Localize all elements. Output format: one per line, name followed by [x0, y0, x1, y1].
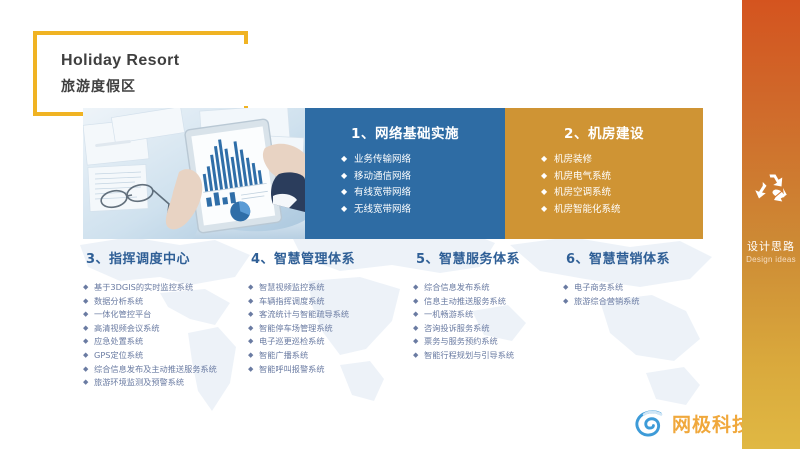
list-item: ◆高清视频会议系统 — [83, 322, 248, 336]
bullet-diamond-icon: ◆ — [83, 335, 94, 349]
list-item-label: 基于3DGIS的实时监控系统 — [94, 282, 193, 292]
top-band: 1、网络基础实施 ◆业务传输网络 ◆移动通信网络 ◆有线宽带网络 ◆无线宽带网络… — [83, 108, 703, 239]
bullet-diamond-icon: ◆ — [413, 308, 424, 322]
bullet-diamond-icon: ◆ — [83, 322, 94, 336]
panel-title: 2、机房建设 — [505, 122, 703, 142]
list-item: ◆综合信息发布及主动推送服务系统 — [83, 363, 248, 377]
list-item: ◆机房装修 — [541, 151, 703, 168]
bullet-diamond-icon: ◆ — [413, 335, 424, 349]
list-item-label: 旅游综合营销系统 — [574, 296, 640, 306]
list-item: ◆GPS定位系统 — [83, 349, 248, 363]
panel-network-infrastructure: 1、网络基础实施 ◆业务传输网络 ◆移动通信网络 ◆有线宽带网络 ◆无线宽带网络 — [305, 108, 505, 239]
list-item: ◆机房智能化系统 — [541, 201, 703, 218]
panel-item-list: ◆机房装修 ◆机房电气系统 ◆机房空调系统 ◆机房智能化系统 — [505, 151, 703, 217]
panel-title: 1、网络基础实施 — [305, 122, 505, 142]
bullet-diamond-icon: ◆ — [83, 376, 94, 390]
list-item: ◆旅游综合营销系统 — [563, 295, 703, 309]
list-item: ◆移动通信网络 — [341, 168, 505, 185]
bullet-diamond-icon: ◆ — [248, 281, 259, 295]
bullet-diamond-icon: ◆ — [341, 151, 354, 167]
list-item: ◆信息主动推送服务系统 — [413, 295, 563, 309]
list-item-label: 信息主动推送服务系统 — [424, 296, 506, 306]
list-item: ◆综合信息发布系统 — [413, 281, 563, 295]
column-smart-marketing-system: 6、智慧营销体系 ◆电子商务系统 ◆旅游综合营销系统 — [563, 248, 703, 398]
list-item: ◆智能行程规划与引导系统 — [413, 349, 563, 363]
list-item: ◆客流统计与智能疏导系统 — [248, 308, 413, 322]
column-smart-service-system: 5、智慧服务体系 ◆综合信息发布系统 ◆信息主动推送服务系统 ◆一机畅游系统 ◆… — [413, 248, 563, 398]
bottom-columns: 3、指挥调度中心 ◆基于3DGIS的实时监控系统 ◆数据分析系统 ◆一体化管控平… — [83, 248, 703, 398]
list-item-label: 智能行程规划与引导系统 — [424, 350, 514, 360]
bullet-diamond-icon: ◆ — [248, 349, 259, 363]
list-item: ◆无线宽带网络 — [341, 201, 505, 218]
column-command-dispatch-center: 3、指挥调度中心 ◆基于3DGIS的实时监控系统 ◆数据分析系统 ◆一体化管控平… — [83, 248, 248, 398]
design-ideas-sidebar: 设计思路 Design ideas — [742, 0, 800, 449]
list-item-label: GPS定位系统 — [94, 350, 143, 360]
list-item-label: 一体化管控平台 — [94, 309, 151, 319]
slide-canvas: Holiday Resort 旅游度假区 — [0, 0, 800, 449]
bullet-diamond-icon: ◆ — [563, 281, 574, 295]
bullet-diamond-icon: ◆ — [541, 201, 554, 217]
list-item-label: 机房智能化系统 — [554, 204, 621, 215]
list-item: ◆车辆指挥调度系统 — [248, 295, 413, 309]
list-item-label: 客流统计与智能疏导系统 — [259, 309, 349, 319]
bullet-diamond-icon: ◆ — [541, 184, 554, 200]
list-item-label: 咨询投诉服务系统 — [424, 323, 490, 333]
list-item: ◆数据分析系统 — [83, 295, 248, 309]
bullet-diamond-icon: ◆ — [83, 363, 94, 377]
list-item-label: 综合信息发布系统 — [424, 282, 490, 292]
list-item-label: 智能呼叫报警系统 — [259, 364, 325, 374]
bullet-diamond-icon: ◆ — [83, 308, 94, 322]
list-item: ◆旅游环境监测及预警系统 — [83, 376, 248, 390]
column-title: 6、智慧营销体系 — [566, 248, 703, 267]
column-item-list: ◆智慧视频监控系统 ◆车辆指挥调度系统 ◆客流统计与智能疏导系统 ◆智能停车场管… — [248, 281, 413, 376]
list-item: ◆智能广播系统 — [248, 349, 413, 363]
bullet-diamond-icon: ◆ — [83, 281, 94, 295]
page-title-en: Holiday Resort — [61, 52, 180, 70]
brand-name: 网极科技 — [672, 410, 752, 437]
list-item-label: 高清视频会议系统 — [94, 323, 160, 333]
bullet-diamond-icon: ◆ — [413, 349, 424, 363]
bullet-diamond-icon: ◆ — [248, 363, 259, 377]
list-item-label: 旅游环境监测及预警系统 — [94, 377, 184, 387]
bullet-diamond-icon: ◆ — [341, 201, 354, 217]
bullet-diamond-icon: ◆ — [413, 281, 424, 295]
bullet-diamond-icon: ◆ — [83, 295, 94, 309]
list-item-label: 智能广播系统 — [259, 350, 308, 360]
list-item-label: 有线宽带网络 — [354, 187, 411, 198]
list-item: ◆一体化管控平台 — [83, 308, 248, 322]
column-item-list: ◆电子商务系统 ◆旅游综合营销系统 — [563, 281, 703, 308]
bullet-diamond-icon: ◆ — [541, 168, 554, 184]
list-item: ◆智能呼叫报警系统 — [248, 363, 413, 377]
column-smart-management-system: 4、智慧管理体系 ◆智慧视频监控系统 ◆车辆指挥调度系统 ◆客流统计与智能疏导系… — [248, 248, 413, 398]
list-item-label: 数据分析系统 — [94, 296, 143, 306]
bullet-diamond-icon: ◆ — [541, 151, 554, 167]
list-item-label: 票务与服务预约系统 — [424, 336, 498, 346]
column-item-list: ◆综合信息发布系统 ◆信息主动推送服务系统 ◆一机畅游系统 ◆咨询投诉服务系统 … — [413, 281, 563, 363]
bullet-diamond-icon: ◆ — [83, 349, 94, 363]
panel-data-center-construction: 2、机房建设 ◆机房装修 ◆机房电气系统 ◆机房空调系统 ◆机房智能化系统 — [505, 108, 703, 239]
bullet-diamond-icon: ◆ — [563, 295, 574, 309]
bullet-diamond-icon: ◆ — [248, 295, 259, 309]
business-photo — [83, 108, 305, 239]
bullet-diamond-icon: ◆ — [341, 168, 354, 184]
column-title: 3、指挥调度中心 — [86, 248, 248, 267]
column-item-list: ◆基于3DGIS的实时监控系统 ◆数据分析系统 ◆一体化管控平台 ◆高清视频会议… — [83, 281, 248, 390]
list-item: ◆票务与服务预约系统 — [413, 335, 563, 349]
list-item: ◆机房电气系统 — [541, 168, 703, 185]
list-item-label: 移动通信网络 — [354, 171, 411, 182]
list-item: ◆电子商务系统 — [563, 281, 703, 295]
column-title: 4、智慧管理体系 — [251, 248, 413, 267]
list-item-label: 业务传输网络 — [354, 154, 411, 165]
swirl-icon — [633, 406, 667, 440]
list-item: ◆应急处置系统 — [83, 335, 248, 349]
bullet-diamond-icon: ◆ — [248, 322, 259, 336]
bullet-diamond-icon: ◆ — [248, 335, 259, 349]
recycle-leaf-icon — [753, 170, 789, 206]
list-item-label: 综合信息发布及主动推送服务系统 — [94, 364, 217, 374]
list-item-label: 机房装修 — [554, 154, 592, 165]
sidebar-label-en: Design ideas — [742, 255, 800, 264]
list-item: ◆咨询投诉服务系统 — [413, 322, 563, 336]
bullet-diamond-icon: ◆ — [413, 322, 424, 336]
list-item: ◆智能停车场管理系统 — [248, 322, 413, 336]
list-item-label: 应急处置系统 — [94, 336, 143, 346]
list-item: ◆电子巡更巡检系统 — [248, 335, 413, 349]
panel-item-list: ◆业务传输网络 ◆移动通信网络 ◆有线宽带网络 ◆无线宽带网络 — [305, 151, 505, 217]
list-item: ◆机房空调系统 — [541, 184, 703, 201]
list-item-label: 一机畅游系统 — [424, 309, 473, 319]
page-title-cn: 旅游度假区 — [61, 76, 136, 96]
bullet-diamond-icon: ◆ — [413, 295, 424, 309]
list-item: ◆有线宽带网络 — [341, 184, 505, 201]
list-item: ◆智慧视频监控系统 — [248, 281, 413, 295]
list-item: ◆业务传输网络 — [341, 151, 505, 168]
list-item-label: 无线宽带网络 — [354, 204, 411, 215]
list-item: ◆一机畅游系统 — [413, 308, 563, 322]
list-item-label: 智慧视频监控系统 — [259, 282, 325, 292]
list-item-label: 电子商务系统 — [574, 282, 623, 292]
brand-logo: 网极科技 — [633, 405, 752, 441]
list-item-label: 电子巡更巡检系统 — [259, 336, 325, 346]
list-item: ◆基于3DGIS的实时监控系统 — [83, 281, 248, 295]
column-title: 5、智慧服务体系 — [416, 248, 563, 267]
list-item-label: 车辆指挥调度系统 — [259, 296, 325, 306]
bullet-diamond-icon: ◆ — [341, 184, 354, 200]
sidebar-label-cn: 设计思路 — [742, 238, 800, 254]
list-item-label: 机房空调系统 — [554, 187, 611, 198]
bullet-diamond-icon: ◆ — [248, 308, 259, 322]
list-item-label: 机房电气系统 — [554, 171, 611, 182]
list-item-label: 智能停车场管理系统 — [259, 323, 333, 333]
